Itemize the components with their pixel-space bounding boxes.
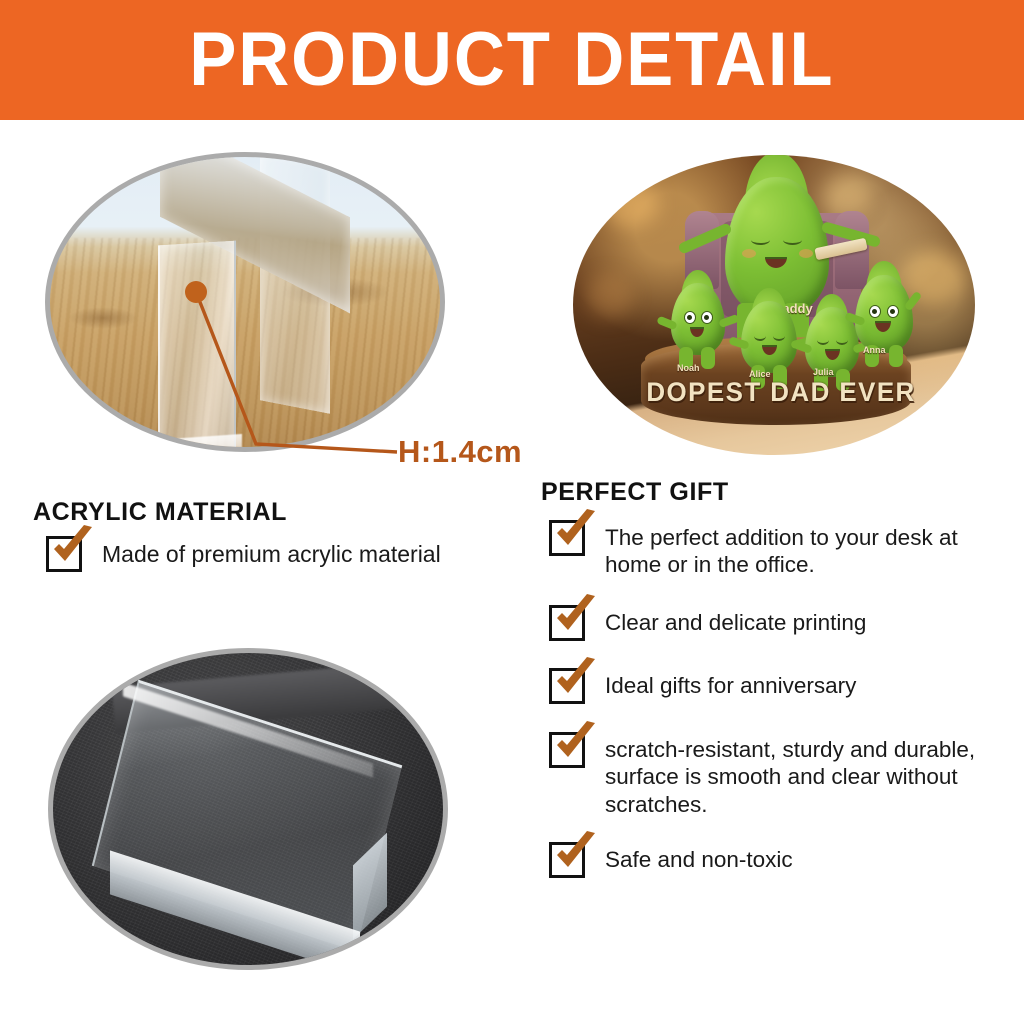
check-icon xyxy=(553,721,599,767)
checkbox[interactable] xyxy=(46,536,82,572)
header-banner: PRODUCT DETAIL xyxy=(0,0,1024,120)
list-item-label: The perfect addition to your desk at hom… xyxy=(605,520,1009,579)
list-item-label: scratch-resistant, sturdy and durable, s… xyxy=(605,732,1009,818)
list-item-label: Clear and delicate printing xyxy=(605,605,866,636)
eye xyxy=(869,305,881,318)
eye-closed xyxy=(751,235,770,245)
acrylic-material-feature-list: Made of premium acrylic material xyxy=(46,536,516,572)
bokeh-light xyxy=(585,275,633,319)
height-annotation-label: H:1.4cm xyxy=(398,434,522,470)
list-item: Safe and non-toxic xyxy=(549,842,1009,878)
acrylic-block-front-face xyxy=(158,241,236,452)
checkbox[interactable] xyxy=(549,605,585,641)
checkbox[interactable] xyxy=(549,842,585,878)
eye-closed xyxy=(817,335,829,345)
eye-closed xyxy=(773,331,785,341)
name-tag-julia: Julia xyxy=(813,367,834,377)
perfect-gift-feature-list: The perfect addition to your desk at hom… xyxy=(549,520,1009,878)
eye-closed xyxy=(754,331,766,341)
check-icon xyxy=(553,657,599,703)
list-item-label: Safe and non-toxic xyxy=(605,842,793,873)
check-icon xyxy=(553,509,599,555)
name-tag-anna: Anna xyxy=(863,345,886,355)
bokeh-light xyxy=(603,181,659,227)
checkbox[interactable] xyxy=(549,520,585,556)
bud-character-noah xyxy=(671,283,725,355)
check-icon xyxy=(553,594,599,640)
bud-character-anna xyxy=(855,275,913,353)
section-heading-perfect-gift: PERFECT GIFT xyxy=(541,478,729,507)
list-item: Clear and delicate printing xyxy=(549,605,1009,641)
wood-knot xyxy=(68,307,138,329)
list-item: Made of premium acrylic material xyxy=(46,536,516,572)
bud-body xyxy=(741,301,797,373)
name-tag-noah: Noah xyxy=(677,363,700,373)
checkbox[interactable] xyxy=(549,668,585,704)
list-item-label: Ideal gifts for anniversary xyxy=(605,668,856,699)
checkbox[interactable] xyxy=(549,732,585,768)
leg-right xyxy=(889,345,903,367)
bud-body xyxy=(671,283,725,355)
base-engraved-text: DOPEST DAD EVER xyxy=(646,377,905,408)
eye xyxy=(684,311,696,324)
section-heading-acrylic-material: ACRYLIC MATERIAL xyxy=(33,498,287,527)
list-item-label: Made of premium acrylic material xyxy=(102,536,441,568)
page-title: PRODUCT DETAIL xyxy=(189,22,834,98)
eye-closed xyxy=(783,235,802,245)
check-icon xyxy=(50,525,96,571)
wood-grain-texture xyxy=(50,238,440,447)
check-icon xyxy=(553,831,599,877)
list-item: Ideal gifts for anniversary xyxy=(549,668,1009,704)
cheek-blush xyxy=(742,249,756,258)
cheek-blush xyxy=(799,249,813,258)
acrylic-edge-on-wood-photo xyxy=(45,152,445,452)
eye xyxy=(887,305,899,318)
bud-character-alice xyxy=(741,301,797,373)
eye xyxy=(701,311,713,324)
bud-body xyxy=(855,275,913,353)
height-annotation-dot xyxy=(185,281,207,303)
list-item: scratch-resistant, sturdy and durable, s… xyxy=(549,732,1009,818)
cannabis-family-figurine-photo: Daddy Noah Alice Julia xyxy=(573,155,975,455)
eye-closed xyxy=(836,335,848,345)
list-item: The perfect addition to your desk at hom… xyxy=(549,520,1009,579)
acrylic-block-on-slate-photo xyxy=(48,648,448,970)
leg-right xyxy=(701,347,715,369)
